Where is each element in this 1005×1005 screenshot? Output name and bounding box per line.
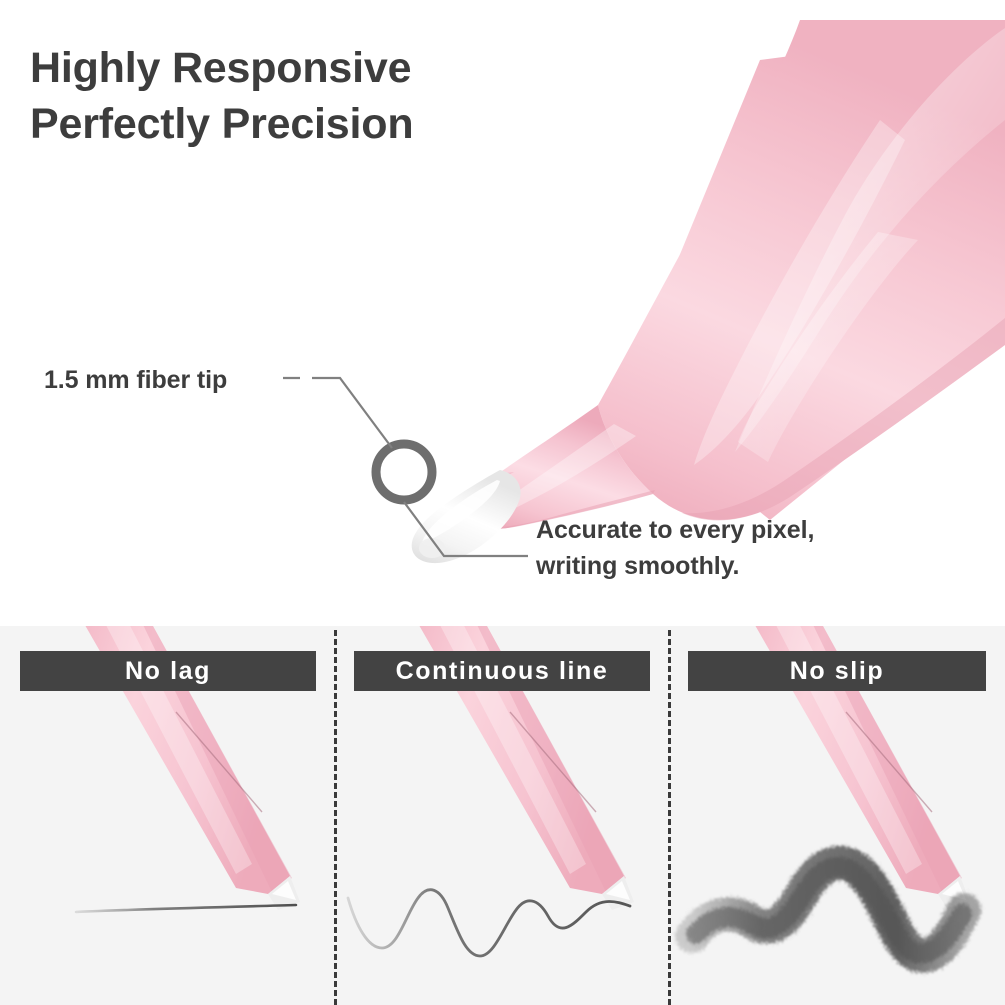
callout-accurate: Accurate to every pixel, writing smoothl… [536,512,814,584]
panel-banner-continuous-line: Continuous line [354,651,650,691]
panel-label: Continuous line [396,657,609,686]
feature-panel-no-lag: No lag [0,626,334,1005]
panel-banner-no-slip: No slip [688,651,986,691]
feature-panels: No lag [0,626,1005,1005]
callout-fiber-tip: 1.5 mm fiber tip [44,362,227,398]
product-feature-image: Highly Responsive Perfectly Precision 1.… [0,0,1005,1005]
hero-section: Highly Responsive Perfectly Precision 1.… [0,0,1005,626]
page-title: Highly Responsive Perfectly Precision [30,40,413,152]
panel-label: No lag [125,657,211,686]
leader-line-fiber-tip [283,378,392,448]
feature-panel-no-slip: No slip [668,626,1005,1005]
panel-banner-no-lag: No lag [20,651,316,691]
tip-annotation-ring [376,444,432,500]
panel-divider-1 [334,630,337,1005]
panel-divider-2 [668,630,671,1005]
feature-panel-continuous-line: Continuous line [334,626,668,1005]
panel-label: No slip [790,657,885,686]
